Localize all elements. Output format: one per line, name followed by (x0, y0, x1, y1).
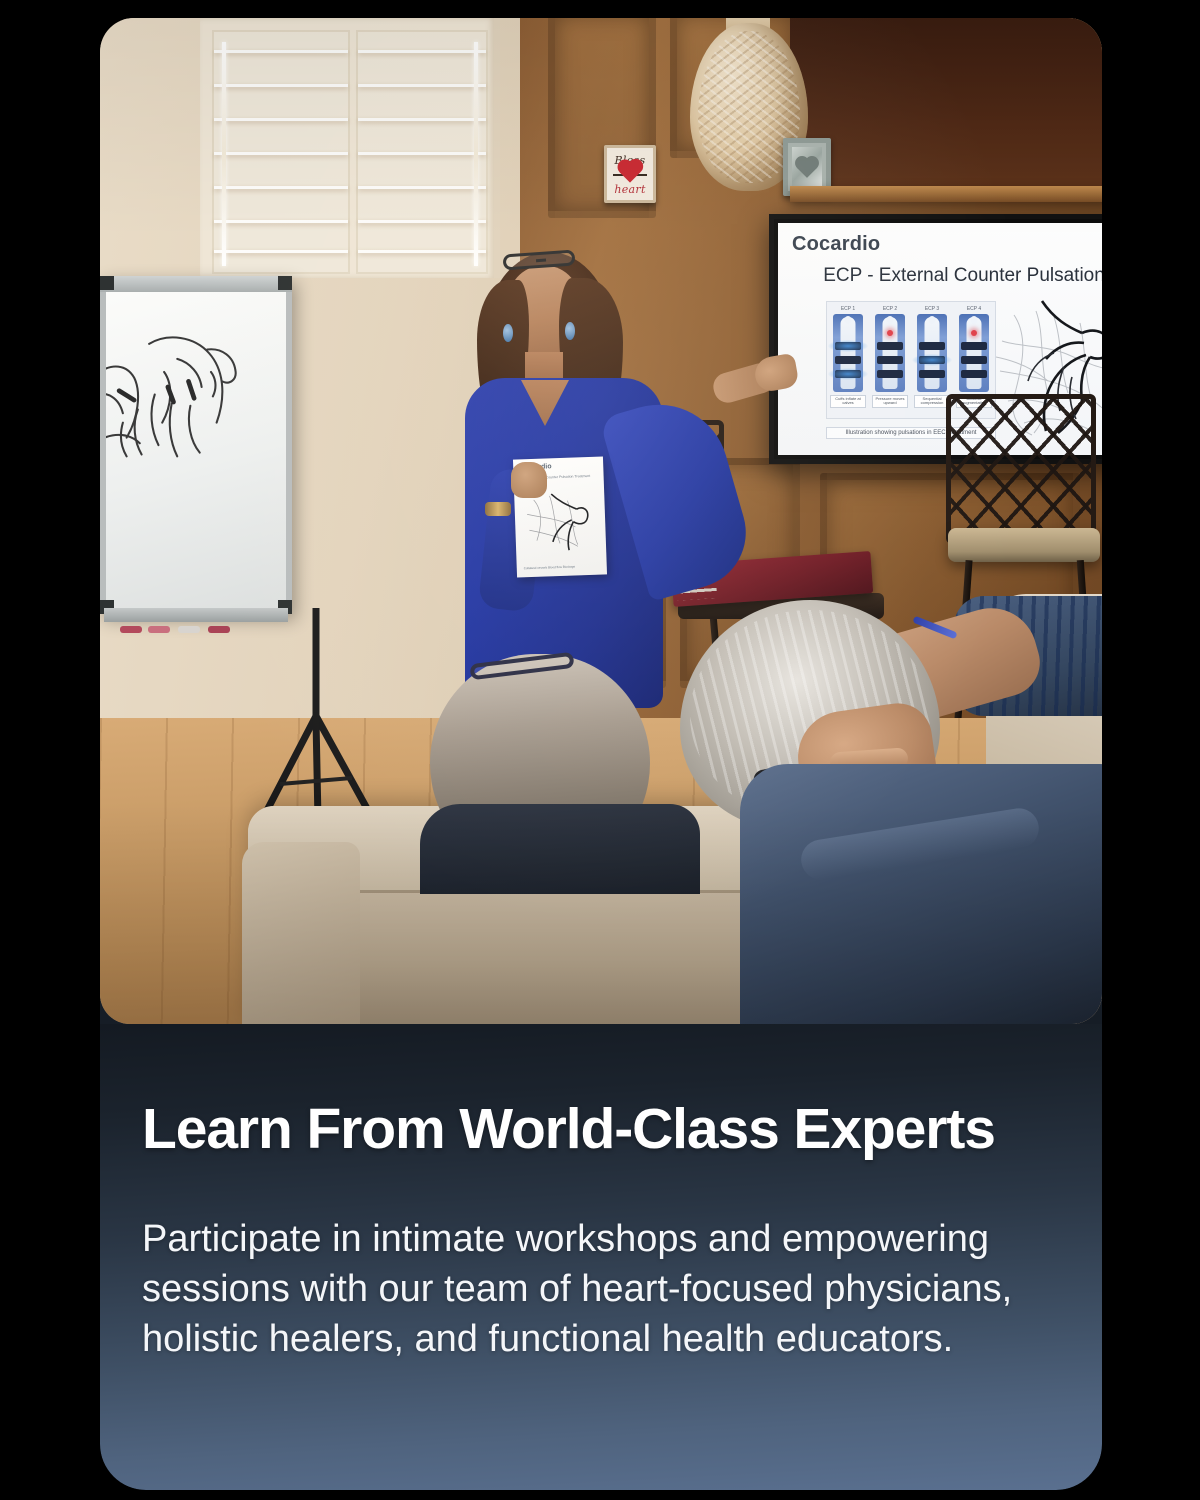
sign-bottom-text: heart (607, 183, 653, 196)
sofa-arm (242, 842, 360, 1024)
feature-card: Bless heart (100, 18, 1102, 1490)
ecp-step: ECP 1 Cuffs inflate at calves (830, 306, 866, 408)
whiteboard-flipchart (100, 276, 292, 614)
ecp-step-note: Cuffs inflate at calves (830, 395, 866, 408)
shelf-ledge (790, 186, 1102, 202)
slide-title: ECP - External Counter Pulsation (778, 265, 1102, 287)
heart-icon (797, 158, 817, 178)
earring (565, 322, 575, 340)
ecp-step: ECP 2 Pressure moves upward (872, 306, 908, 408)
photo-scene: Bless heart (100, 18, 1102, 1024)
shelf-recess (790, 18, 1102, 188)
slide-logo: Cocardio (792, 233, 880, 256)
window-shutters (200, 18, 500, 278)
bracelet (485, 502, 511, 516)
flipchart-tripod (220, 608, 420, 828)
heart-icon (619, 162, 640, 183)
audience-shoulders (420, 804, 700, 894)
text-panel: Learn From World-Class Experts Participa… (100, 1024, 1102, 1490)
audience-member-woman (430, 654, 650, 864)
handout-angiogram (518, 491, 602, 556)
shutter-panel-right (356, 30, 488, 274)
workshop-photo: Bless heart (100, 18, 1102, 1024)
jacket-fold (798, 805, 1041, 882)
page-title: Learn From World-Class Experts (142, 1100, 1072, 1160)
ecp-step-note: Pressure moves upward (872, 395, 908, 408)
ecp-body-figure (833, 314, 863, 392)
description-text: Participate in intimate workshops and em… (142, 1214, 1072, 1364)
ecp-step-note: Sequential compression (914, 395, 950, 408)
ecp-step-label: ECP 3 (914, 306, 950, 312)
ecp-step-label: ECP 2 (872, 306, 908, 312)
whiteboard-heart-sketch (106, 282, 286, 599)
blue-jacket (740, 764, 1102, 1024)
frame-photo (792, 147, 822, 187)
ecp-body-figure (917, 314, 947, 392)
screenshot-stage: Bless heart (0, 0, 1200, 1500)
ecp-step-label: ECP 1 (830, 306, 866, 312)
earring (503, 324, 513, 342)
ecp-body-figure (875, 314, 905, 392)
shutter-panel-left (212, 30, 350, 274)
ecp-step: ECP 3 Sequential compression (914, 306, 950, 408)
bless-your-heart-sign: Bless heart (604, 145, 656, 203)
presenter-hand-left (511, 462, 547, 498)
handout-legend: Collateral vessels Blood flow Blockage (524, 564, 575, 570)
